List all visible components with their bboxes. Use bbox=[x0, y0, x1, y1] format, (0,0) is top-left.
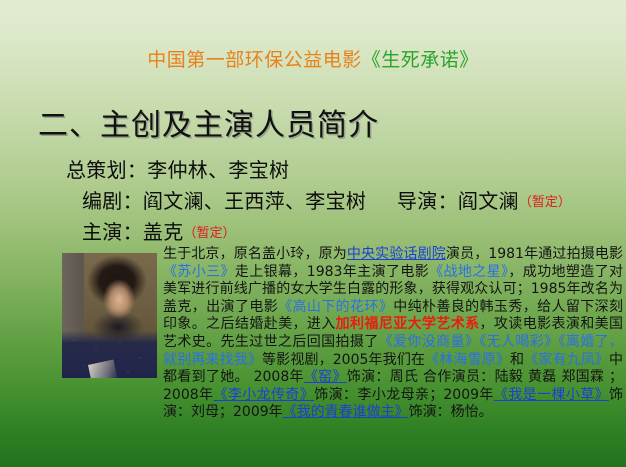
bio-highlight[interactable]: 加利福尼亚大学艺术系 bbox=[336, 316, 480, 332]
credit-label-lead-actor: 主演： bbox=[82, 220, 143, 244]
credit-line-planner: 总策划：李仲林、李宝树 bbox=[66, 157, 289, 183]
slide-banner-title: 中国第一部环保公益电影《生死承诺》 bbox=[0, 48, 626, 72]
credit-line-screenwriter: 编剧：阎文澜、王西萍、李宝树 bbox=[82, 188, 366, 214]
bio-film-title[interactable]: 《林海雪原》 bbox=[425, 352, 510, 368]
banner-title-prefix: 中国第一部环保公益电影 bbox=[147, 49, 362, 71]
bio-hyperlink[interactable]: 《李小龙传奇》 bbox=[213, 387, 314, 403]
bio-hyperlink[interactable]: 中央实验话剧院 bbox=[347, 246, 446, 262]
credit-line-lead-actor: 主演：盖克（暂定） bbox=[82, 219, 236, 247]
credit-label-planner: 总策划： bbox=[66, 158, 147, 182]
bio-film-title[interactable]: 《家有九凤》 bbox=[524, 352, 609, 368]
banner-title-film: 《生死承诺》 bbox=[362, 49, 479, 71]
bio-film-title[interactable]: 《无人喝彩》 bbox=[479, 334, 558, 350]
bio-text-run: 演员，1981年通过拍摄电影 bbox=[446, 246, 623, 262]
portrait-artwork bbox=[62, 253, 157, 378]
bio-text-run: 生于北京，原名盖小玲，原为 bbox=[163, 246, 347, 262]
credit-names-lead-actor: 盖克 bbox=[143, 220, 184, 244]
bio-text-run: 饰演：杨怡。 bbox=[409, 404, 493, 420]
bio-text-run: 等影视剧，2005年我们在 bbox=[262, 352, 425, 368]
credit-label-screenwriter: 编剧： bbox=[82, 189, 143, 213]
bio-text-run: 走上银幕，1983年主演了电影 bbox=[235, 264, 429, 280]
page-heading: 二、主创及主演人员简介 bbox=[38, 107, 379, 145]
bio-text-run: 饰演：李小龙母亲；2009年 bbox=[314, 387, 494, 403]
bio-film-title[interactable]: 《苏小三》 bbox=[163, 264, 235, 280]
credit-names-director: 阎文澜 bbox=[458, 189, 519, 213]
credit-names-planner: 李仲林、李宝树 bbox=[147, 158, 289, 182]
bio-film-title[interactable]: 《高山下的花环》 bbox=[278, 299, 393, 315]
bio-hyperlink[interactable]: 《我是一棵小草》 bbox=[494, 387, 609, 403]
bio-text-run: 和 bbox=[510, 352, 524, 368]
credit-label-director: 导演： bbox=[397, 189, 458, 213]
credit-note-director: （暂定） bbox=[519, 195, 571, 210]
actor-biography-paragraph: 生于北京，原名盖小玲，原为中央实验话剧院演员，1981年通过拍摄电影《苏小三》走… bbox=[163, 246, 623, 422]
slide-canvas: 中国第一部环保公益电影《生死承诺》 二、主创及主演人员简介 总策划：李仲林、李宝… bbox=[0, 0, 626, 467]
bio-hyperlink[interactable]: 《我的青春谁做主》 bbox=[283, 404, 409, 420]
bio-film-title[interactable]: 《战地之星》 bbox=[429, 264, 508, 280]
bio-hyperlink[interactable]: 《窑》 bbox=[304, 369, 347, 385]
credit-note-lead-actor: （暂定） bbox=[184, 226, 236, 241]
credit-names-screenwriter: 阎文澜、王西萍、李宝树 bbox=[143, 189, 366, 213]
actor-portrait-photo bbox=[62, 253, 157, 378]
bio-film-title[interactable]: 《爱你没商量》 bbox=[379, 334, 480, 350]
credit-line-director: 导演：阎文澜（暂定） bbox=[397, 188, 571, 216]
